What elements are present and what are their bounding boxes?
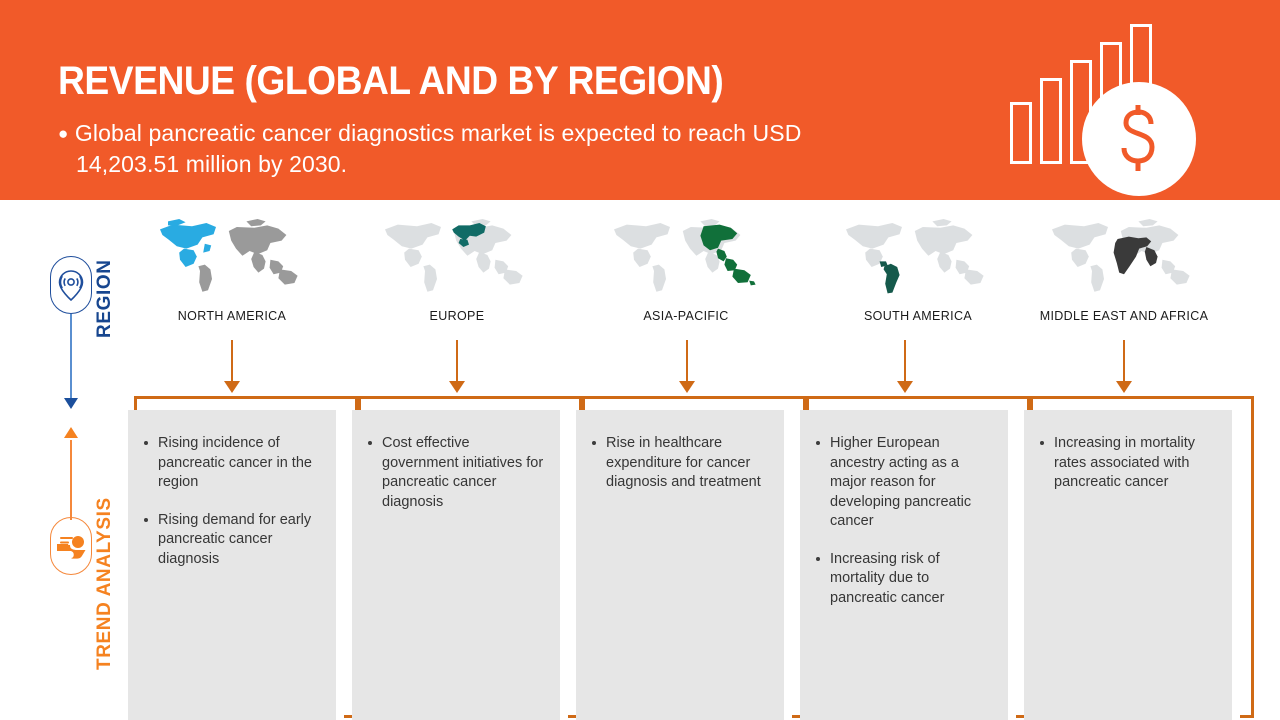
column-arrow-line-2 xyxy=(456,340,458,386)
trend-box-south-america: Higher European ancestry acting as a maj… xyxy=(800,410,1008,720)
column-arrow-head-5-icon xyxy=(1116,381,1132,393)
world-map-asia-pacific-highlight xyxy=(574,215,798,295)
bullet-marker-icon: ● xyxy=(58,124,68,143)
hand-holding-chart-icon xyxy=(50,517,92,575)
trend-box-middle-east-africa: Increasing in mortality rates associated… xyxy=(1024,410,1232,720)
world-map-north-america-highlight xyxy=(120,215,344,295)
bullet-item: Rise in healthcare expenditure for cance… xyxy=(590,434,770,493)
region-label-north-america: NORTH AMERICA xyxy=(120,309,344,323)
trend-box-north-america: Rising incidence of pancreatic cancer in… xyxy=(128,410,336,720)
region-column-asia-pacific: ASIA-PACIFIC xyxy=(574,215,798,323)
page-title: REVENUE (GLOBAL AND BY REGION) xyxy=(58,58,723,104)
header-banner: REVENUE (GLOBAL AND BY REGION) ● Global … xyxy=(0,0,1280,200)
bullet-item: Higher European ancestry acting as a maj… xyxy=(814,434,994,532)
chart-bar-1 xyxy=(1010,102,1032,164)
region-label-asia-pacific: ASIA-PACIFIC xyxy=(574,309,798,323)
dollar-bar-chart-icon xyxy=(1000,14,1200,194)
column-arrow-head-1-icon xyxy=(224,381,240,393)
column-arrow-head-2-icon xyxy=(449,381,465,393)
world-map-middle-east-africa-highlight xyxy=(1012,215,1236,295)
region-label-south-america: SOUTH AMERICA xyxy=(806,309,1030,323)
region-arrow-head-icon xyxy=(64,398,78,409)
bullet-item: Increasing risk of mortality due to panc… xyxy=(814,550,994,609)
chart-bar-2 xyxy=(1040,78,1062,164)
region-column-north-america: NORTH AMERICA xyxy=(120,215,344,323)
region-label-europe: EUROPE xyxy=(345,309,569,323)
column-arrow-line-5 xyxy=(1123,340,1125,386)
header-subtitle-text: Global pancreatic cancer diagnostics mar… xyxy=(75,120,802,177)
trend-arrow-line xyxy=(70,440,72,520)
rail-label-trend-analysis: TREND ANALYSIS xyxy=(94,430,116,670)
region-column-europe: EUROPE xyxy=(345,215,569,323)
column-arrow-line-3 xyxy=(686,340,688,386)
region-label-middle-east-africa: MIDDLE EAST AND AFRICA xyxy=(1012,309,1236,323)
region-column-middle-east-africa: MIDDLE EAST AND AFRICA xyxy=(1012,215,1236,323)
header-subtitle-wrap: ● Global pancreatic cancer diagnostics m… xyxy=(58,118,898,180)
bullet-item: Rising demand for early pancreatic cance… xyxy=(142,511,322,570)
bullet-item: Cost effective government initiatives fo… xyxy=(366,434,546,512)
dollar-sign-icon xyxy=(1107,103,1171,175)
trend-box-asia-pacific: Rise in healthcare expenditure for cance… xyxy=(576,410,784,720)
trend-box-europe: Cost effective government initiatives fo… xyxy=(352,410,560,720)
column-arrow-head-3-icon xyxy=(679,381,695,393)
region-arrow-line xyxy=(70,314,72,400)
region-column-south-america: SOUTH AMERICA xyxy=(806,215,1030,323)
rail-label-region: REGION xyxy=(94,228,116,338)
header-subtitle: ● Global pancreatic cancer diagnostics m… xyxy=(58,118,898,180)
trend-arrow-head-icon xyxy=(64,427,78,438)
column-arrow-line-1 xyxy=(231,340,233,386)
world-map-europe-highlight xyxy=(345,215,569,295)
column-arrow-line-4 xyxy=(904,340,906,386)
location-pin-icon xyxy=(50,256,92,314)
column-arrow-head-4-icon xyxy=(897,381,913,393)
world-map-south-america-highlight xyxy=(806,215,1030,295)
infographic-page: REVENUE (GLOBAL AND BY REGION) ● Global … xyxy=(0,0,1280,720)
bullet-item: Increasing in mortality rates associated… xyxy=(1038,434,1218,493)
bullet-item: Rising incidence of pancreatic cancer in… xyxy=(142,434,322,493)
